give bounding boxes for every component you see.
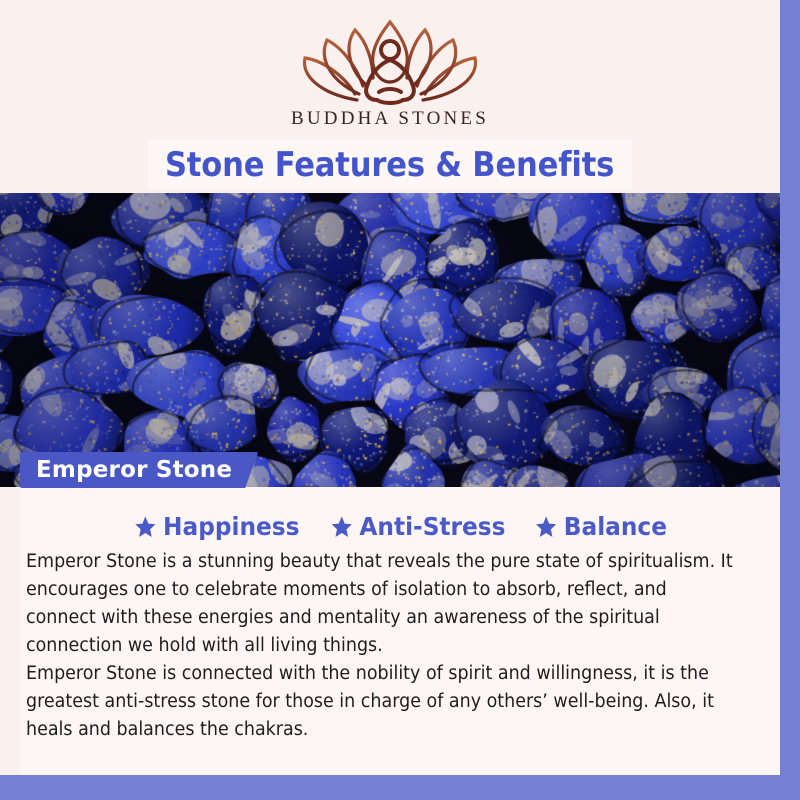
benefits-row: Happiness Anti-Stress Balance bbox=[20, 487, 780, 541]
benefit-item: Balance bbox=[535, 512, 667, 541]
poster-card: BUDDHA STONES Stone Features & Benefits … bbox=[0, 0, 780, 775]
brand-name: BUDDHA STONES bbox=[0, 108, 780, 130]
lotus-meditating-figure-icon bbox=[295, 14, 485, 106]
description-panel: Happiness Anti-Stress Balance Emperor St… bbox=[20, 487, 780, 775]
benefit-item: Happiness bbox=[134, 512, 299, 541]
description-paragraph-1: Emperor Stone is a stunning beauty that … bbox=[26, 548, 733, 660]
benefit-label: Happiness bbox=[163, 512, 299, 541]
star-icon bbox=[535, 515, 557, 539]
stone-photo bbox=[0, 193, 780, 487]
description-paragraph-2: Emperor Stone is connected with the nobi… bbox=[26, 660, 733, 744]
stone-name-ribbon: Emperor Stone bbox=[20, 452, 258, 488]
star-icon bbox=[134, 515, 156, 539]
benefit-label: Balance bbox=[564, 512, 667, 541]
benefit-item: Anti-Stress bbox=[330, 512, 505, 541]
stone-name-label: Emperor Stone bbox=[36, 457, 232, 483]
star-icon bbox=[330, 515, 352, 539]
page-title: Stone Features & Benefits bbox=[165, 145, 614, 185]
poster: BUDDHA STONES Stone Features & Benefits … bbox=[0, 0, 800, 800]
title-band: Stone Features & Benefits bbox=[148, 140, 632, 190]
lapis-lazuli-stones-image bbox=[0, 193, 780, 487]
description-text: Emperor Stone is a stunning beauty that … bbox=[20, 541, 780, 744]
brand-logo: BUDDHA STONES bbox=[0, 14, 780, 130]
benefit-label: Anti-Stress bbox=[359, 512, 505, 541]
